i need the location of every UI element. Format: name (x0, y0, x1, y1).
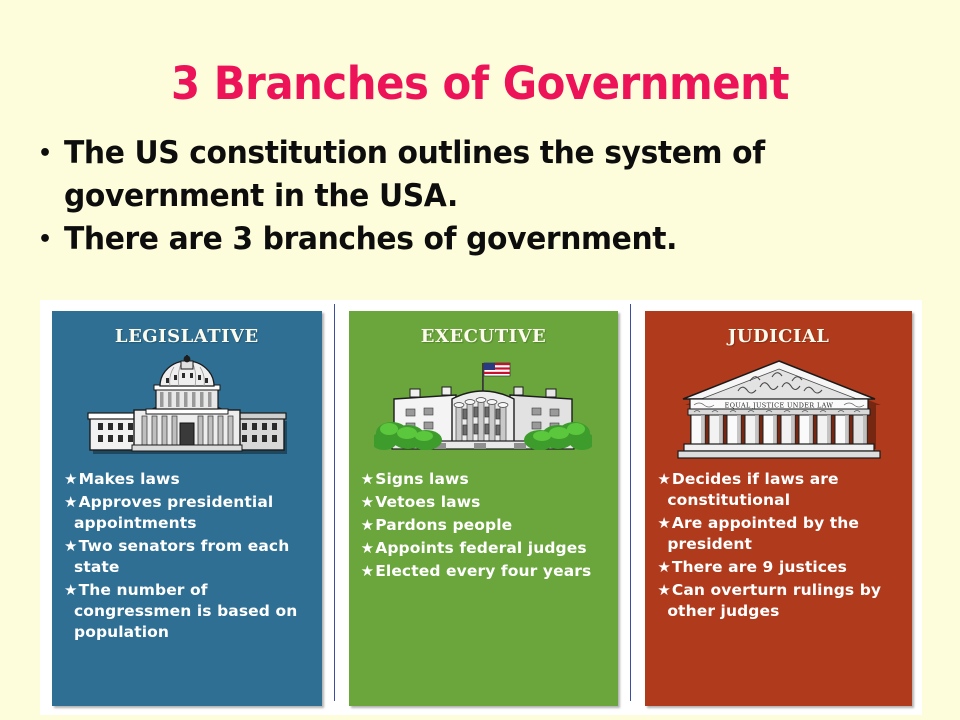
list-item: ★Elected every four years (361, 561, 611, 582)
list-item-text: Decides if laws are constitutional (667, 470, 838, 509)
star-icon: ★ (64, 581, 79, 599)
list-item-text: There are 3 branches of government. (64, 218, 884, 261)
list-item-text: Signs laws (375, 470, 469, 488)
star-icon: ★ (64, 537, 79, 555)
star-icon: ★ (657, 514, 672, 532)
list-item-text: Elected every four years (375, 562, 591, 580)
list-item-text: The number of congressmen is based on po… (74, 581, 297, 641)
list-item-text: Two senators from each state (74, 537, 289, 576)
branches-card-row: Legislative (40, 300, 922, 715)
branch-card-judicial: Judicial (633, 300, 922, 715)
list-item: ★Two senators from each state (64, 536, 314, 578)
list-item-text: Are appointed by the president (667, 514, 859, 553)
star-icon: ★ (657, 581, 672, 599)
branch-points-legislative: ★Makes laws ★Approves presidential appoi… (52, 459, 322, 702)
star-icon: ★ (657, 558, 672, 576)
list-item: • There are 3 branches of government. (38, 218, 918, 261)
star-icon: ★ (64, 493, 79, 511)
list-item-text: Makes laws (79, 470, 180, 488)
star-icon: ★ (361, 562, 376, 580)
branch-title-executive: Executive (349, 317, 619, 349)
list-item: ★Appoints federal judges (361, 538, 611, 559)
list-item: • The US constitution outlines the syste… (38, 132, 918, 218)
branch-title-legislative: Legislative (52, 317, 322, 349)
list-item: ★Approves presidential appointments (64, 492, 314, 534)
branch-card-executive: Executive (337, 300, 629, 715)
star-icon: ★ (361, 470, 376, 488)
list-item: ★Are appointed by the president (657, 513, 904, 555)
list-item: ★Makes laws (64, 469, 314, 490)
branch-card-body: Judicial (645, 311, 912, 706)
branch-card-legislative: Legislative (40, 300, 332, 715)
slide-body-list: • The US constitution outlines the syste… (38, 132, 918, 261)
list-item-text: Pardons people (375, 516, 512, 534)
star-icon: ★ (64, 470, 79, 488)
list-item-text: Can overturn rulings by other judges (667, 581, 881, 620)
branch-title-judicial: Judicial (645, 317, 912, 349)
branch-points-executive: ★Signs laws ★Vetoes laws ★Pardons people… (349, 459, 619, 702)
list-item: ★Signs laws (361, 469, 611, 490)
list-item: ★Vetoes laws (361, 492, 611, 513)
supreme-court-building-icon: EQUAL JUSTICE UNDER LAW (645, 351, 912, 459)
list-item-text: The US constitution outlines the system … (64, 132, 884, 218)
list-item: ★Decides if laws are constitutional (657, 469, 904, 511)
svg-text:EQUAL JUSTICE UNDER LAW: EQUAL JUSTICE UNDER LAW (724, 401, 833, 409)
branch-points-judicial: ★Decides if laws are constitutional ★Are… (645, 459, 912, 702)
page-title: 3 Branches of Government (34, 58, 927, 110)
star-icon: ★ (361, 493, 376, 511)
white-house-icon (349, 351, 619, 459)
list-item-text: Appoints federal judges (375, 539, 586, 557)
list-item: ★Pardons people (361, 515, 611, 536)
capitol-building-icon (52, 351, 322, 459)
list-item-text: Vetoes laws (375, 493, 480, 511)
list-item-text: Approves presidential appointments (74, 493, 273, 532)
list-item: ★Can overturn rulings by other judges (657, 580, 904, 622)
bullet-dot-icon: • (38, 218, 64, 261)
star-icon: ★ (361, 516, 376, 534)
bullet-dot-icon: • (38, 132, 64, 175)
list-item: ★The number of congressmen is based on p… (64, 580, 314, 643)
branch-card-body: Legislative (52, 311, 322, 706)
list-item: ★There are 9 justices (657, 557, 904, 578)
star-icon: ★ (657, 470, 672, 488)
star-icon: ★ (361, 539, 376, 557)
list-item-text: There are 9 justices (672, 558, 847, 576)
branch-card-body: Executive (349, 311, 619, 706)
